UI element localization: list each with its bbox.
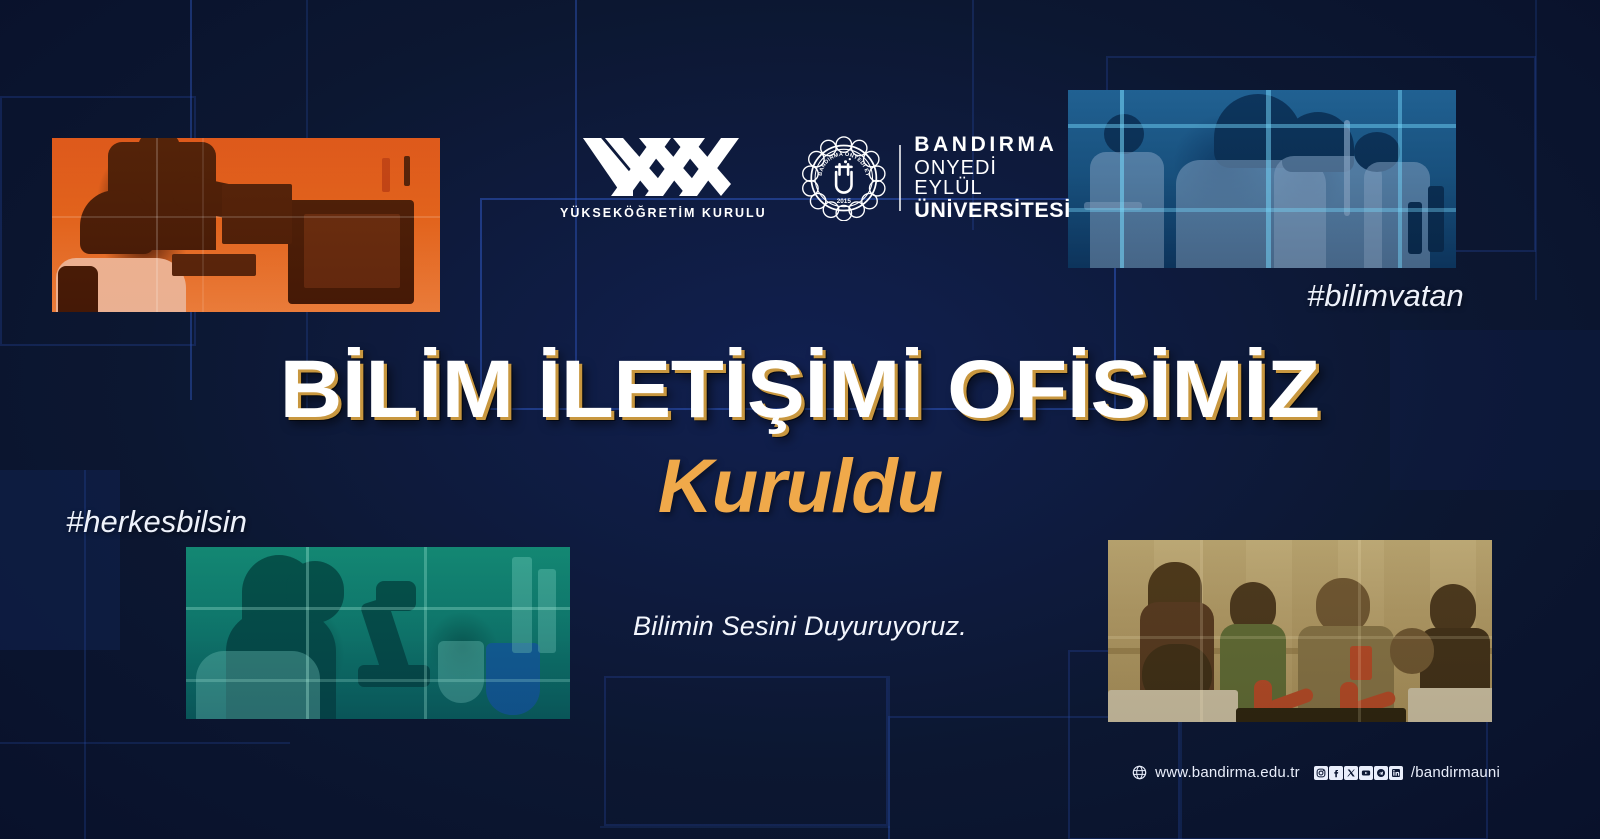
poster-canvas: YÜKSEKÖĞRETİM KURULU: [0, 0, 1600, 839]
footer-contact: www.bandirma.edu.tr: [1132, 764, 1500, 781]
facebook-icon[interactable]: [1329, 766, 1343, 780]
photo-grid-lines: [52, 138, 440, 312]
hashtag-herkesbilsin: #herkesbilsin: [66, 504, 247, 540]
university-name-block: BANDIRMA ONYEDİ EYLÜL ÜNİVERSİTESİ: [914, 134, 1071, 222]
linkedin-icon[interactable]: [1389, 766, 1403, 780]
headline-block: BİLİM İLETİŞİMİ OFİSİMİZ Kuruldu: [0, 343, 1600, 530]
telegram-icon[interactable]: [1374, 766, 1388, 780]
bandirma-university-seal: BANDIRMA ONYEDİ EYLÜL ÜNİVERSİTESİ 2015: [801, 135, 887, 221]
social-icon-group: [1314, 766, 1403, 780]
logo-row: YÜKSEKÖĞRETİM KURULU: [560, 128, 1040, 228]
yok-logo-caption: YÜKSEKÖĞRETİM KURULU: [560, 206, 767, 220]
globe-icon: [1132, 765, 1147, 780]
hashtag-bilimvatan: #bilimvatan: [1307, 278, 1464, 314]
photo-3d-printer-lab: [52, 138, 440, 312]
instagram-icon[interactable]: [1314, 766, 1328, 780]
seal-year: 2015: [836, 198, 851, 205]
x-twitter-icon[interactable]: [1344, 766, 1358, 780]
bandirma-university-logo: BANDIRMA ONYEDİ EYLÜL ÜNİVERSİTESİ 2015 …: [801, 134, 1072, 222]
tagline: Bilimin Sesini Duyuruyoruz.: [0, 611, 1600, 642]
university-name-line2: ONYEDİ EYLÜL: [914, 158, 1071, 198]
logo-divider: [899, 145, 901, 211]
yok-logo-mark: [579, 136, 747, 198]
social-handle[interactable]: /bandirmauni: [1411, 764, 1500, 781]
website-url[interactable]: www.bandirma.edu.tr: [1155, 764, 1300, 781]
photo-chemistry-lab: [1068, 90, 1456, 268]
yok-logo: YÜKSEKÖĞRETİM KURULU: [560, 136, 767, 220]
photo-grid-lines: [1068, 90, 1456, 268]
headline-main: BİLİM İLETİŞİMİ OFİSİMİZ: [280, 343, 1320, 437]
university-name-line3: ÜNİVERSİTESİ: [914, 200, 1071, 222]
youtube-icon[interactable]: [1359, 766, 1373, 780]
university-name-line1: BANDIRMA: [914, 134, 1071, 155]
